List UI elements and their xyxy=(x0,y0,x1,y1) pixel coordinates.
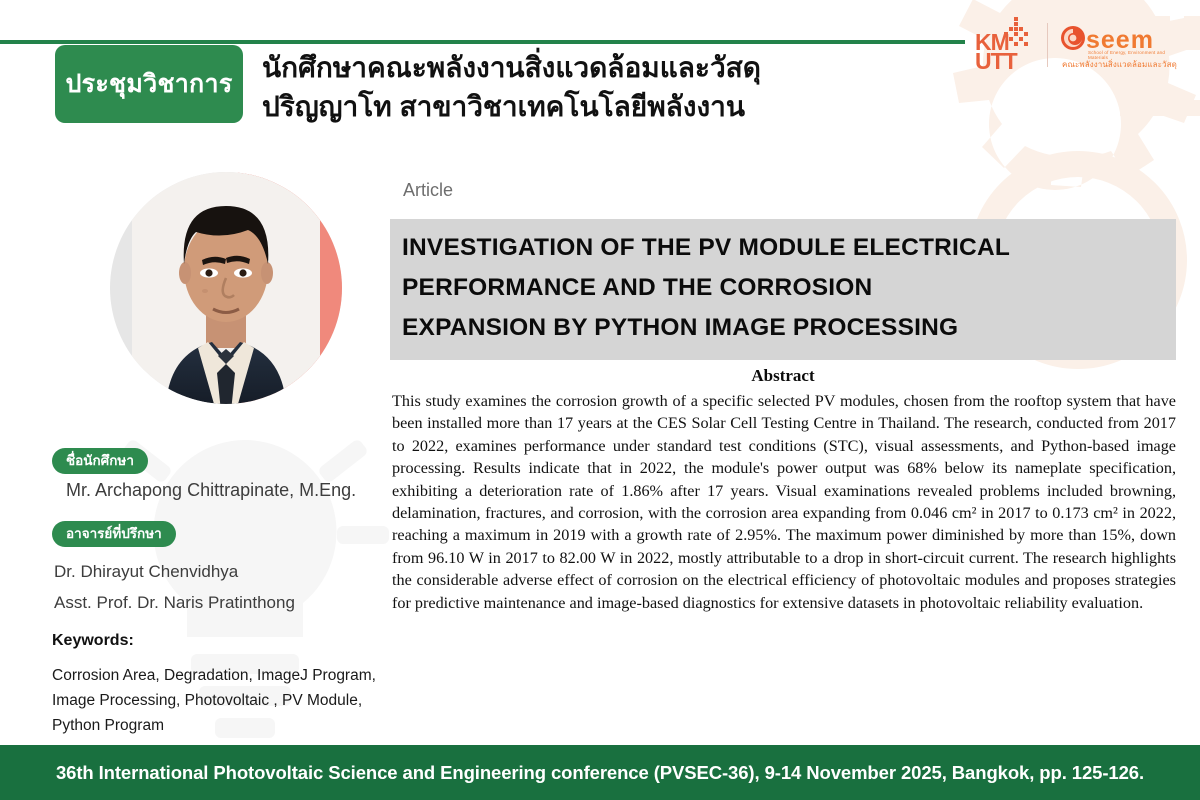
keywords-line-1: Corrosion Area, Degradation, ImageJ Prog… xyxy=(52,663,392,688)
logo-group: KM UTT seem School of Energy, Environmen… xyxy=(973,16,1184,74)
avatar-portrait xyxy=(110,172,342,404)
conference-badge-label: ประชุมวิชาการ xyxy=(65,64,232,104)
list-item: Asst. Prof. Dr. Naris Pratinthong xyxy=(54,587,295,618)
page-title-line-2: ปริญญาโท สาขาวิชาเทคโนโลยีพลังงาน xyxy=(262,87,962,126)
kmutt-logo-line-2: UTT xyxy=(975,50,1017,72)
keywords-label: Keywords: xyxy=(52,632,134,650)
article-kicker: Article xyxy=(403,180,453,201)
advisor-badge: อาจารย์ที่ปรึกษา xyxy=(52,521,176,547)
article-title-line-1: INVESTIGATION OF THE PV MODULE ELECTRICA… xyxy=(402,228,1176,268)
article-title-line-2: PERFORMANCE AND THE CORROSION xyxy=(402,268,1176,308)
keywords-list: Corrosion Area, Degradation, ImageJ Prog… xyxy=(52,663,392,738)
conference-poster: ประชุมวิชาการ นักศึกษาคณะพลังงานสิ่งแวดล… xyxy=(0,0,1200,800)
student-name-value: Mr. Archapong Chittrapinate, M.Eng. xyxy=(66,480,356,501)
student-name-badge: ชื่อนักศึกษา xyxy=(52,448,148,474)
student-name-badge-label: ชื่อนักศึกษา xyxy=(66,453,134,468)
seem-subtitle-th: คณะพลังงานสิ่งแวดล้อมและวัสดุ xyxy=(1062,58,1177,71)
advisor-list: Dr. Dhirayut Chenvidhya Asst. Prof. Dr. … xyxy=(54,556,295,618)
footer-text: 36th International Photovoltaic Science … xyxy=(56,762,1144,784)
article-title-line-3: EXPANSION BY PYTHON IMAGE PROCESSING xyxy=(402,308,1176,348)
page-title-line-1: นักศึกษาคณะพลังงานสิ่งแวดล้อมและวัสดุ xyxy=(262,48,962,87)
advisor-badge-label: อาจารย์ที่ปรึกษา xyxy=(66,526,162,541)
list-item: Dr. Dhirayut Chenvidhya xyxy=(54,556,295,587)
seem-swirl-icon xyxy=(1060,25,1086,51)
header-rule xyxy=(0,40,965,44)
logo-divider xyxy=(1047,23,1048,67)
avatar xyxy=(110,172,342,404)
conference-badge: ประชุมวิชาการ xyxy=(55,45,243,123)
seem-logo: seem School of Energy, Environment and M… xyxy=(1060,20,1184,70)
page-title: นักศึกษาคณะพลังงานสิ่งแวดล้อมและวัสดุ ปร… xyxy=(262,48,962,126)
article-title: INVESTIGATION OF THE PV MODULE ELECTRICA… xyxy=(390,219,1176,360)
keywords-line-3: Python Program xyxy=(52,713,392,738)
footer-bar: 36th International Photovoltaic Science … xyxy=(0,745,1200,800)
abstract-text: This study examines the corrosion growth… xyxy=(392,390,1176,614)
keywords-line-2: Image Processing, Photovoltaic , PV Modu… xyxy=(52,688,392,713)
abstract-heading: Abstract xyxy=(390,366,1176,386)
kmutt-logo: KM UTT xyxy=(973,17,1035,73)
